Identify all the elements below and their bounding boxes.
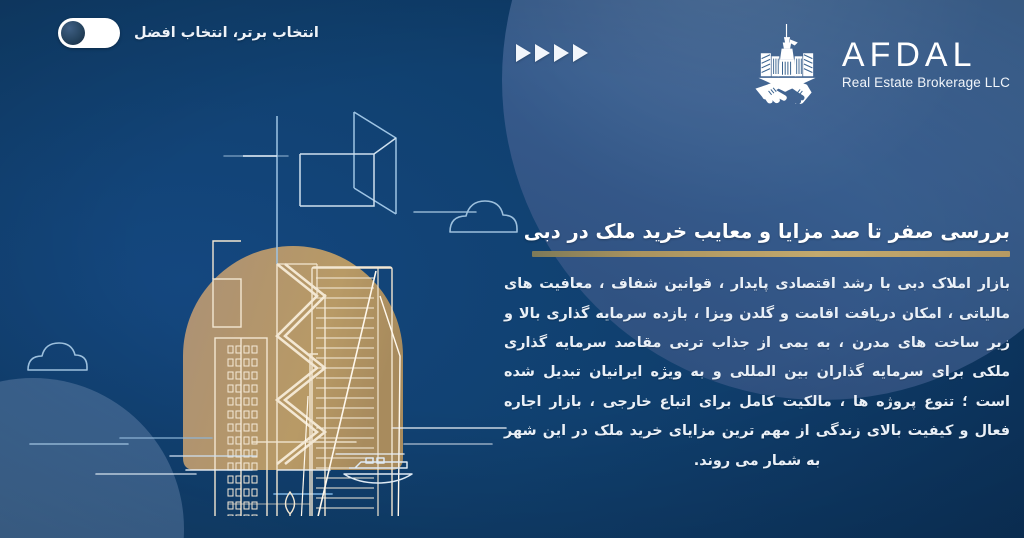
dubai-skyline-illustration [0,96,520,516]
toggle-switch-icon[interactable] [58,18,120,48]
body-paragraph: بازار املاک دبی با رشد اقتصادی پایدار ، … [504,270,1010,476]
tower-spires [243,112,396,264]
arrow-right-icon [573,44,588,62]
arrow-right-icon [516,44,531,62]
arrow-right-icon [554,44,569,62]
arrow-right-icon [535,44,550,62]
headline-underline [532,251,1010,257]
brand-subtitle: Real Estate Brokerage LLC [842,75,1010,90]
logo-text-block: AFDAL Real Estate Brokerage LLC [842,38,1010,91]
tagline-text: انتخاب برتر، انتخاب افضل [134,25,319,41]
buildings-handshake-icon [748,24,826,104]
page-title: بررسی صفر تا صد مزایا و معایب خرید ملک د… [504,218,1010,246]
brand-logo[interactable]: AFDAL Real Estate Brokerage LLC [748,24,1010,104]
brand-name: AFDAL [842,38,977,73]
tagline-row: انتخاب برتر، انتخاب افضل [58,18,319,48]
cloud-icon [28,343,87,370]
copy-block: بررسی صفر تا صد مزایا و معایب خرید ملک د… [504,218,1010,476]
banner-canvas: انتخاب برتر، انتخاب افضل [0,0,1024,538]
toggle-knob [61,21,85,45]
arrows-decoration [516,44,588,62]
